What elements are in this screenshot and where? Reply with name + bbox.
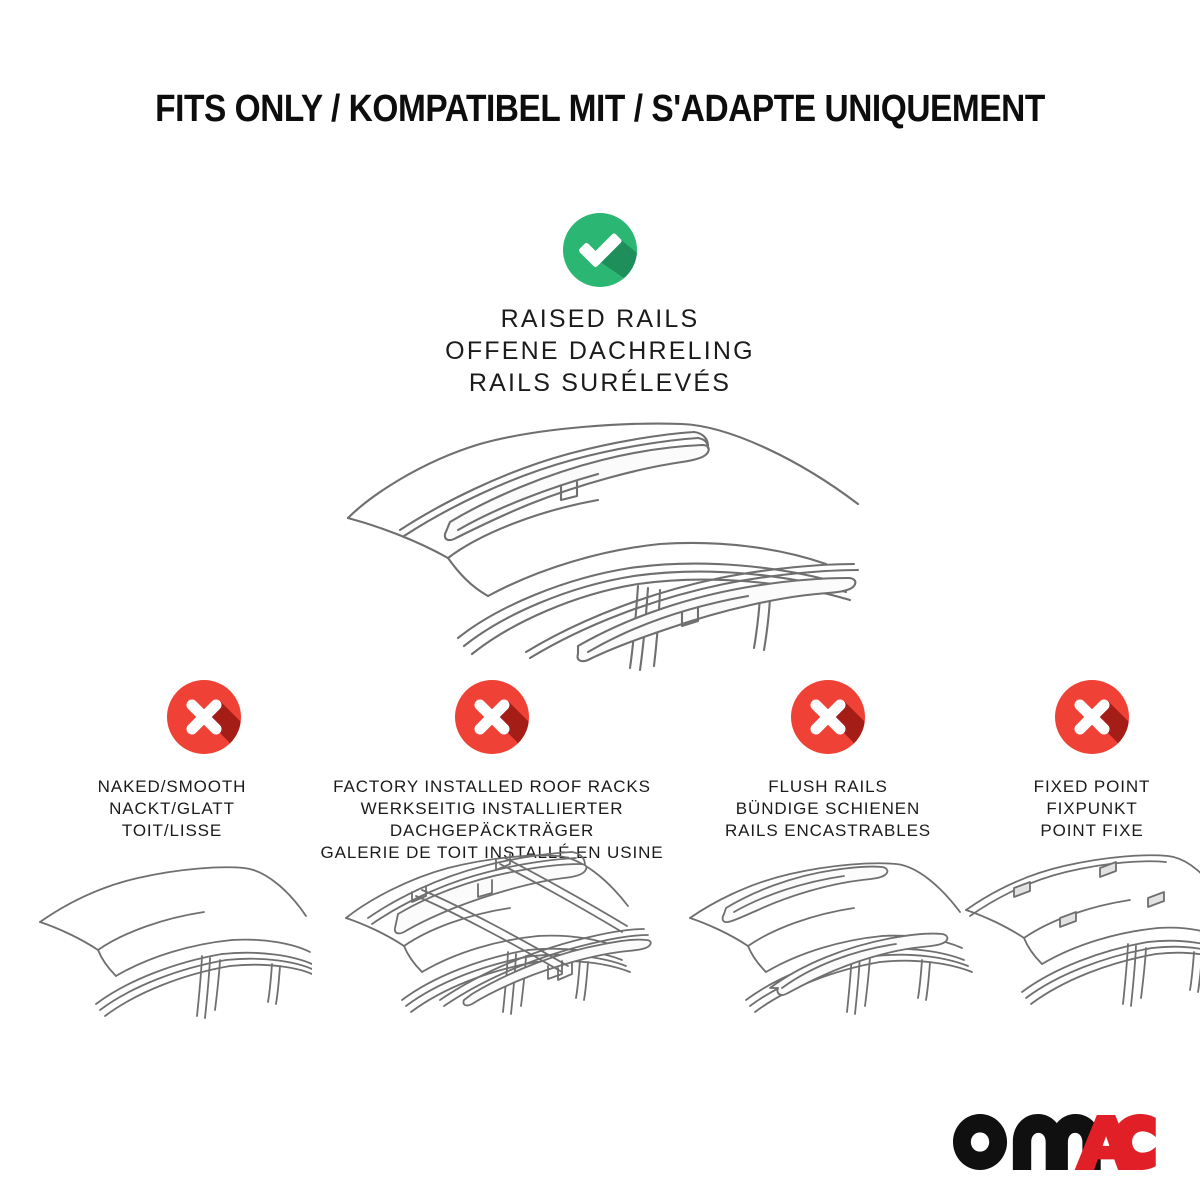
- incompatible-label: FLUSH RAILS BÜNDIGE SCHIENEN RAILS ENCAS…: [725, 776, 931, 842]
- incompatible-label-line-de: BÜNDIGE SCHIENEN: [725, 798, 931, 820]
- car-roof-flush-rails-illustration: [678, 852, 978, 1057]
- compatible-label-line-en: RAISED RAILS: [0, 303, 1200, 335]
- x-circle-icon: [167, 680, 241, 754]
- omac-logo-letter-o: [953, 1114, 1007, 1170]
- incompatible-label-line-de: NACKT/GLATT: [98, 798, 247, 820]
- x-circle-icon: [455, 680, 529, 754]
- incompatible-label-line-de-2: DACHGEPÄCKTRÄGER: [320, 820, 663, 842]
- x-circle-icon: [1055, 680, 1129, 754]
- car-roof-factory-roof-racks-illustration: [332, 840, 652, 1060]
- page-title: FITS ONLY / KOMPATIBEL MIT / S'ADAPTE UN…: [72, 88, 1128, 131]
- incompatible-label-line-de-1: WERKSEITIG INSTALLIERTER: [320, 798, 663, 820]
- compatible-label-line-fr: RAILS SURÉLEVÉS: [0, 367, 1200, 399]
- car-roof-fixed-point-illustration: [956, 848, 1200, 1053]
- incompatible-label-line-de: FIXPUNKT: [1034, 798, 1151, 820]
- incompatible-label-line-en: FIXED POINT: [1034, 776, 1151, 798]
- x-circle-icon: [791, 680, 865, 754]
- compatible-label: RAISED RAILS OFFENE DACHRELING RAILS SUR…: [0, 303, 1200, 399]
- incompatible-label-line-fr: POINT FIXE: [1034, 820, 1151, 842]
- compatible-label-line-de: OFFENE DACHRELING: [0, 335, 1200, 367]
- incompatible-label: NAKED/SMOOTH NACKT/GLATT TOIT/LISSE: [98, 776, 247, 842]
- incompatible-label-line-en: FLUSH RAILS: [725, 776, 931, 798]
- incompatible-label-line-fr: RAILS ENCASTRABLES: [725, 820, 931, 842]
- omac-logo: OMAC: [953, 1114, 1156, 1170]
- check-circle-icon: [563, 213, 637, 287]
- incompatible-label-line-fr: TOIT/LISSE: [98, 820, 247, 842]
- car-roof-raised-rails-illustration: [330, 400, 890, 680]
- incompatible-label-line-en: FACTORY INSTALLED ROOF RACKS: [320, 776, 663, 798]
- car-roof-naked-smooth-illustration: [32, 852, 312, 1057]
- incompatible-label: FIXED POINT FIXPUNKT POINT FIXE: [1034, 776, 1151, 842]
- incompatible-label-line-en: NAKED/SMOOTH: [98, 776, 247, 798]
